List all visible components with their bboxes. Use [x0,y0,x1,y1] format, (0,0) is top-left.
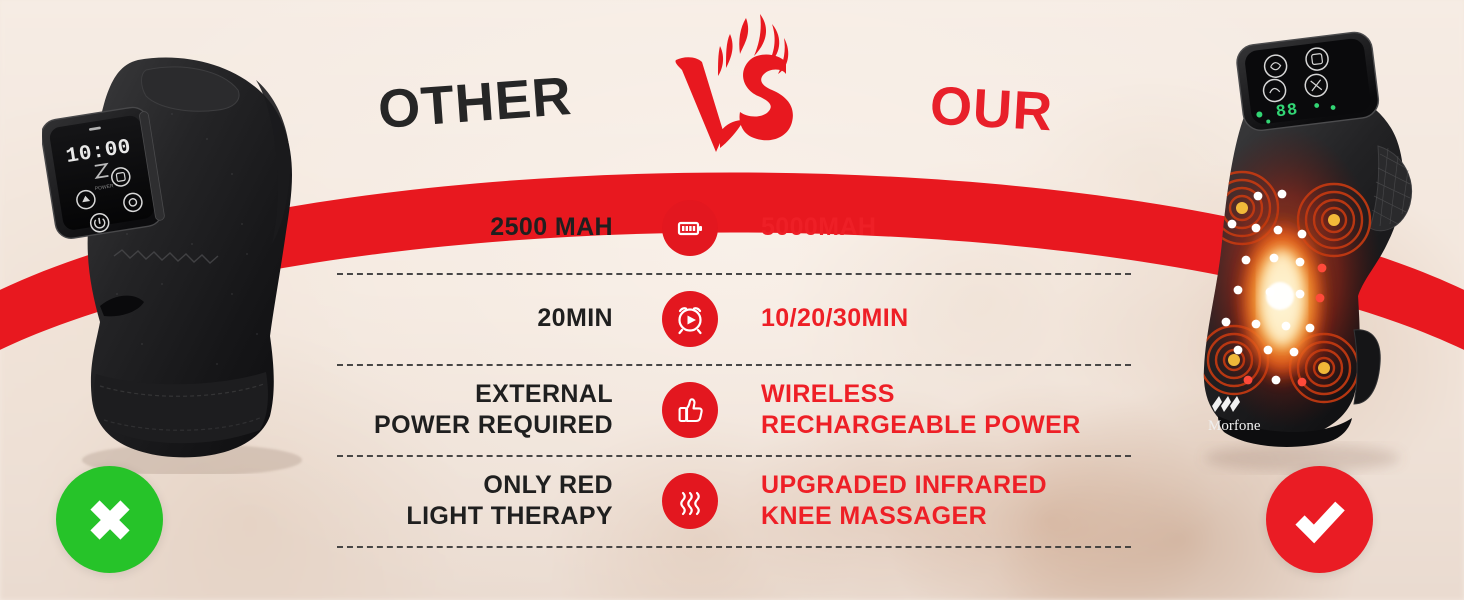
table-row: EXTERNAL POWER REQUIRED WIRELESS RECHARG… [337,364,1131,455]
row-divider [337,546,1131,548]
row-our-value: 10/20/30MIN [743,303,1131,334]
row-icon-cell [637,473,743,529]
alarm-clock-icon [662,291,718,347]
row-icon-cell [637,200,743,256]
comparison-table: 2500 MAH 5000MAH 20MIN [337,182,1131,546]
row-our-line1: WIRELESS [761,380,895,408]
battery-icon [662,200,718,256]
table-row: 20MIN 10/20/30MIN [337,273,1131,364]
product-image-our: Morfone 88 [1182,28,1444,480]
comparison-infographic: 10:00 POWER [0,0,1464,600]
row-our-value: UPGRADED INFRARED KNEE MASSAGER [743,470,1131,531]
table-row: ONLY RED LIGHT THERAPY UPGRADED INFRARED [337,455,1131,546]
cross-x-icon [79,489,141,551]
thumbs-up-icon [662,382,718,438]
product-image-other: 10:00 POWER [42,44,328,474]
row-icon-cell [637,291,743,347]
row-our-value: 5000MAH [743,212,1131,243]
row-our-line2: KNEE MASSAGER [761,502,987,530]
status-badge-our [1266,466,1373,573]
row-other-line2: POWER REQUIRED [374,411,613,439]
row-other-value: EXTERNAL POWER REQUIRED [337,379,637,440]
row-icon-cell [637,382,743,438]
row-our-value: WIRELESS RECHARGEABLE POWER [743,379,1131,440]
svg-text:88: 88 [1275,101,1300,123]
row-other-value: 20MIN [337,303,637,334]
status-badge-other [56,466,163,573]
heat-waves-icon [662,473,718,529]
brand-name: Morfone [1208,418,1261,434]
row-our-line2: RECHARGEABLE POWER [761,411,1081,439]
row-other-value: 2500 MAH [337,212,637,243]
table-row: 2500 MAH 5000MAH [337,182,1131,273]
row-our-line1: UPGRADED INFRARED [761,471,1047,499]
checkmark-icon [1287,487,1353,553]
row-other-line1: EXTERNAL [475,380,613,408]
row-other-line1: ONLY RED [483,471,613,499]
row-other-line2: LIGHT THERAPY [406,502,613,530]
vs-flame-logo [668,12,814,164]
row-other-value: ONLY RED LIGHT THERAPY [337,470,637,531]
header-our-label: OUR [928,75,1054,144]
